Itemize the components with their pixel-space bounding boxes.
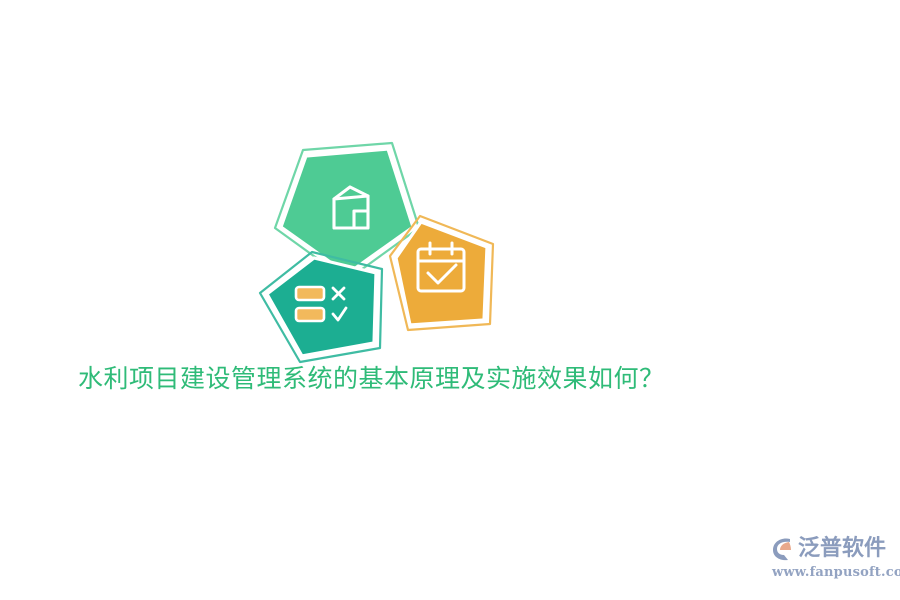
illustration-graphic: [250, 140, 510, 365]
fanpu-logo-icon: [770, 536, 796, 562]
page-canvas: 水利项目建设管理系统的基本原理及实施效果如何？ 泛普软件 www.fanpuso…: [0, 0, 900, 600]
pentagon-building-body: [281, 149, 413, 274]
checklist-bar-1: [296, 287, 324, 300]
brand-watermark: 泛普软件 www.fanpusoft.com: [770, 534, 894, 586]
checklist-bar-2: [296, 308, 324, 321]
pentagon-checklist: [260, 252, 382, 362]
brand-logo-row: 泛普软件: [770, 534, 894, 564]
brand-name: 泛普软件: [798, 536, 886, 562]
page-title: 水利项目建设管理系统的基本原理及实施效果如何？: [78, 362, 818, 396]
brand-url: www.fanpusoft.com: [772, 565, 894, 580]
